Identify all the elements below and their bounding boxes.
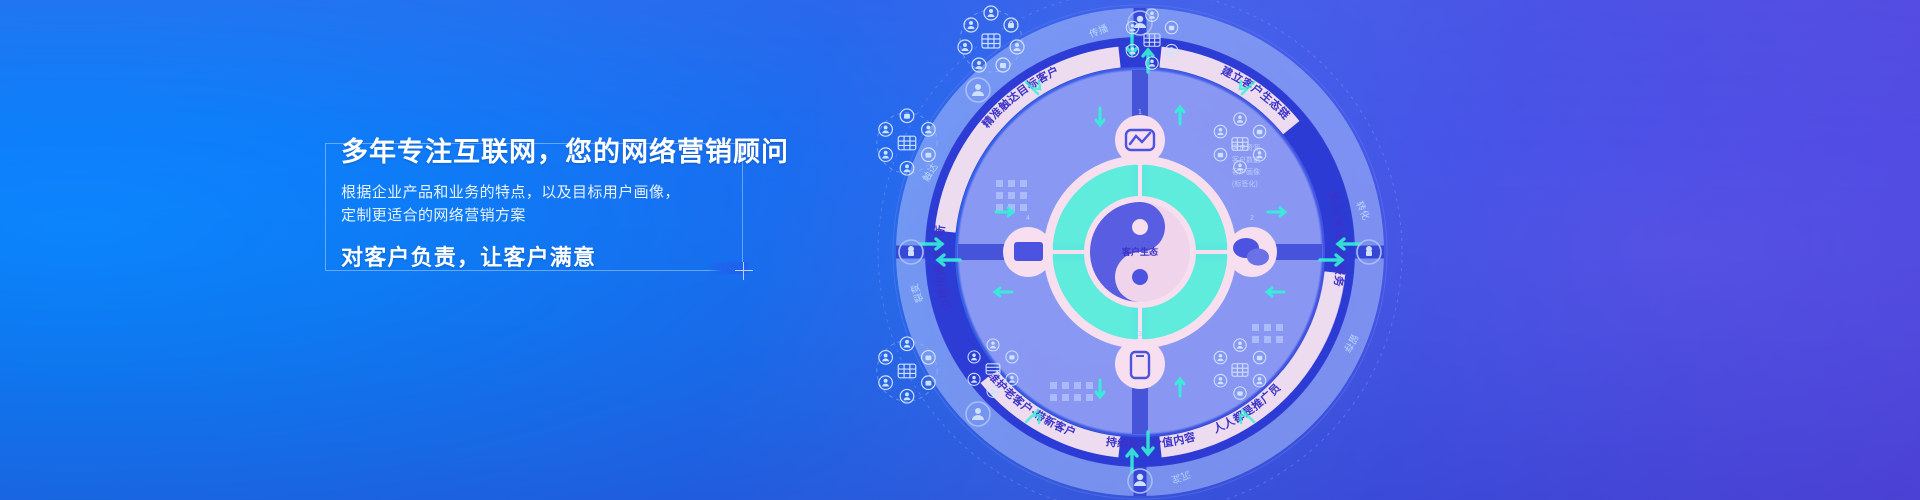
subheadline-line-1: 根据企业产品和业务的特点，以及目标用户画像， bbox=[341, 181, 741, 204]
satellite-cluster-bottom bbox=[962, 338, 1024, 400]
satellite-cluster-left bbox=[872, 108, 942, 178]
hub-node-3-num: 3 bbox=[1138, 331, 1142, 338]
subheadline-line-2: 定制更适合的网络营销方案 bbox=[341, 204, 741, 227]
inner-note-3: (标签化) bbox=[1232, 179, 1258, 188]
hub-node-4-num: 4 bbox=[1026, 215, 1030, 222]
satellite-cluster-top-right bbox=[1120, 8, 1184, 72]
center-core: 客户生态 bbox=[1084, 196, 1196, 308]
subheadline: 根据企业产品和业务的特点，以及目标用户画像， 定制更适合的网络营销方案 bbox=[341, 181, 741, 227]
headline: 多年专注互联网，您的网络营销顾问 bbox=[341, 132, 741, 172]
promo-banner: 多年专注互联网，您的网络营销顾问 根据企业产品和业务的特点，以及目标用户画像， … bbox=[0, 0, 1920, 500]
copy-block: 多年专注互联网，您的网络营销顾问 根据企业产品和业务的特点，以及目标用户画像， … bbox=[341, 132, 741, 272]
customer-ecosystem-wheel-graphic: 建立客户生态链 关心/关注增值服务 人人都是推广员 持续输出价值内容 维护老客户… bbox=[800, 0, 1480, 500]
dot-matrix-left bbox=[996, 180, 1027, 211]
hub-node-2-num: 2 bbox=[1250, 215, 1254, 222]
satellite-cluster-bottom-left bbox=[872, 336, 942, 406]
tagline: 对客户负责，让客户满意 bbox=[341, 240, 741, 272]
satellite-cluster-right bbox=[1208, 112, 1272, 176]
satellite-cluster-bottom-right bbox=[1208, 338, 1272, 402]
hub-node-1-num: 1 bbox=[1138, 109, 1142, 116]
satellite-cluster-top bbox=[955, 5, 1027, 77]
center-label: 客户生态 bbox=[1121, 246, 1158, 257]
